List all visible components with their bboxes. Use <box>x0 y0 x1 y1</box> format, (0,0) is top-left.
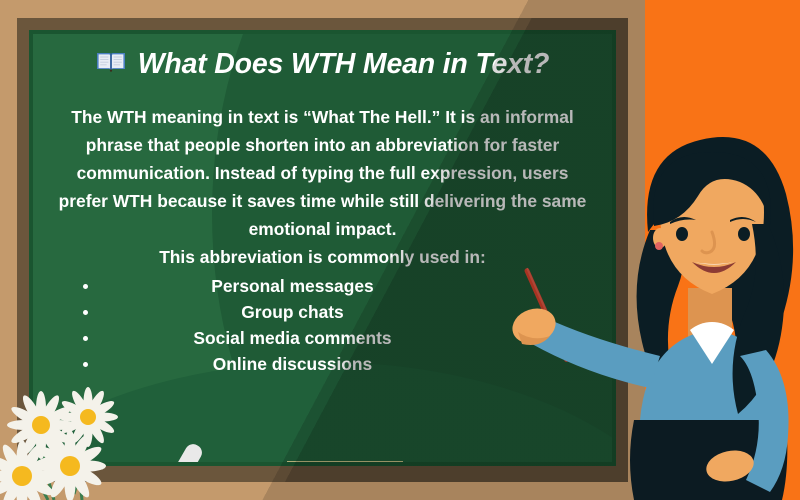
nose <box>702 232 715 253</box>
shirt-collar <box>690 322 734 364</box>
shirt-torso <box>640 334 786 420</box>
eyebrow-right <box>730 217 756 222</box>
body-paragraph: The WTH meaning in text is “What The Hel… <box>43 103 602 243</box>
khaki-eraser <box>287 461 403 462</box>
arm-on-hip <box>740 350 789 492</box>
hair-right-long <box>733 224 785 414</box>
eye-left <box>676 227 688 241</box>
list-item: Group chats <box>83 299 602 325</box>
hair-fringe <box>653 152 771 226</box>
eyebrow-left <box>670 217 696 224</box>
list-lead-in: This abbreviation is commonly used in: <box>43 243 602 271</box>
eye-right <box>738 227 750 241</box>
earring-left <box>655 242 663 250</box>
list-item: Online discussions <box>83 351 602 377</box>
neck <box>688 288 732 340</box>
earring-right <box>761 242 769 250</box>
list-item: Personal messages <box>83 273 602 299</box>
hair-back <box>647 137 793 384</box>
page-title: What Does WTH Mean in Text? <box>138 48 550 81</box>
face <box>660 154 764 294</box>
daisy-flowers <box>0 382 160 500</box>
usage-list: Personal messages Group chats Social med… <box>43 273 602 377</box>
ear-left <box>653 228 667 248</box>
blackboard-infographic: What Does WTH Mean in Text? The WTH mean… <box>0 0 800 500</box>
open-book-icon <box>96 50 126 79</box>
ear-right <box>757 228 771 248</box>
pants <box>630 420 787 500</box>
hand-on-hip <box>703 446 756 485</box>
list-item: Social media comments <box>83 325 602 351</box>
mouth <box>692 262 736 273</box>
title-row: What Does WTH Mean in Text? <box>43 48 602 81</box>
teeth <box>694 262 734 265</box>
